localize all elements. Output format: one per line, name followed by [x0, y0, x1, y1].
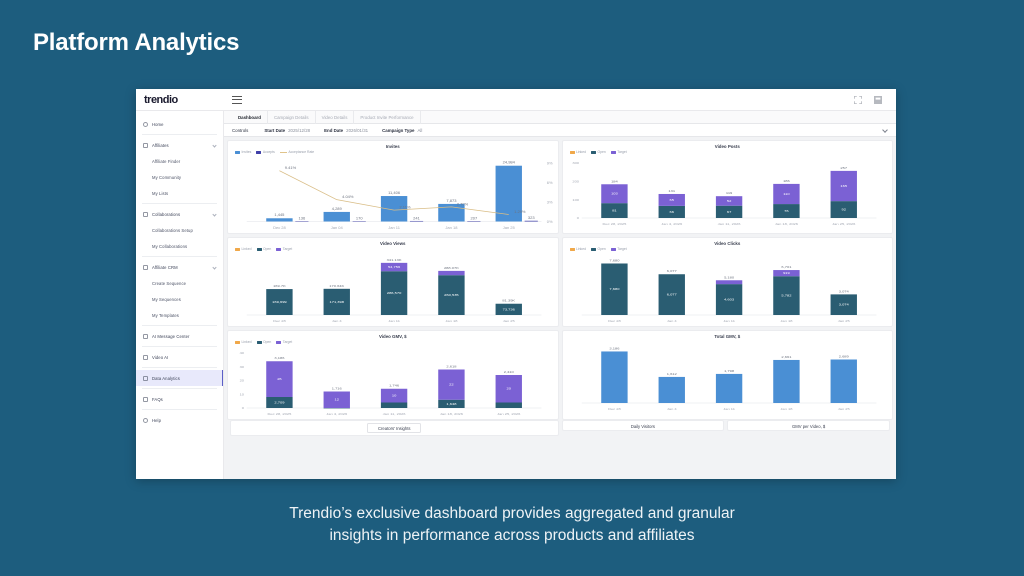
crm-icon: [143, 265, 148, 270]
tab-product-invite-performance[interactable]: Product Invite Performance: [354, 111, 420, 124]
svg-text:1,716: 1,716: [332, 387, 342, 390]
chart-title: Video Posts: [567, 144, 889, 149]
start-date-label: Start Date: [264, 128, 285, 133]
legend-label: Linked: [242, 247, 252, 251]
svg-text:184: 184: [611, 180, 618, 183]
svg-text:Jan 4, 2026: Jan 4, 2026: [661, 222, 682, 225]
nav-divider: [142, 409, 217, 410]
legend-swatch: [235, 151, 240, 154]
chart-plot-video-posts[interactable]: 010020030018481103Dec 28, 20251316665Jan…: [567, 155, 889, 227]
legend-label: Open: [263, 247, 271, 251]
slide-caption: Trendio’s exclusive dashboard provides a…: [0, 503, 1024, 548]
sidebar-item-label: Data Analytics: [152, 376, 180, 381]
controls-bar: Controls Start Date2025/12/28 End Date20…: [224, 124, 896, 137]
sidebar: HomeAffiliatesAffiliate FinderMy Communi…: [136, 111, 224, 479]
chart-legend: LinkedOpenTarget: [232, 247, 554, 251]
controls-label: Controls: [232, 128, 248, 133]
chart-legend: LinkedOpenTarget: [567, 150, 889, 154]
end-date-value: 2026/01/31: [346, 128, 368, 133]
legend-swatch: [611, 151, 616, 154]
sidebar-item-label: My Sequences: [152, 297, 181, 302]
svg-text:Dec 28: Dec 28: [273, 226, 286, 230]
sidebar-item-collaborations-setup[interactable]: Collaborations Setup: [136, 222, 223, 238]
legend-swatch: [235, 341, 240, 344]
sidebar-item-label: My Collaborations: [152, 244, 187, 249]
chart-card-video-gmv: Video GMV, $LinkedOpenTarget0102030403,1…: [227, 330, 559, 420]
caption-line-1: Trendio’s exclusive dashboard provides a…: [0, 503, 1024, 525]
svg-text:Jan 18: Jan 18: [780, 407, 792, 410]
sidebar-item-label: FAQs: [152, 397, 163, 402]
hamburger-icon[interactable]: [232, 96, 242, 104]
svg-text:81.39K: 81.39K: [502, 299, 515, 302]
svg-text:300: 300: [572, 162, 579, 165]
svg-text:7,873: 7,873: [446, 199, 456, 203]
sidebar-item-label: Affiliates: [152, 143, 169, 148]
end-date-field[interactable]: End Date2026/01/31: [324, 128, 368, 133]
sidebar-item-label: Collaborations Setup: [152, 228, 193, 233]
sidebar-item-my-templates[interactable]: My Templates: [136, 307, 223, 323]
svg-text:Jan 11: Jan 11: [723, 407, 735, 410]
svg-text:0%: 0%: [547, 220, 554, 224]
legend-swatch: [257, 341, 262, 344]
chart-title: Video Clicks: [567, 241, 889, 246]
svg-text:20: 20: [507, 387, 511, 390]
svg-text:92: 92: [841, 208, 845, 211]
legend-item[interactable]: Target: [276, 340, 292, 344]
legend-label: Target: [283, 340, 292, 344]
svg-text:12: 12: [335, 398, 339, 401]
nav-divider: [142, 203, 217, 204]
caption-line-2: insights in performance across products …: [0, 525, 1024, 547]
svg-text:Jan 25: Jan 25: [503, 319, 515, 322]
svg-text:Jan 4, 2026: Jan 4, 2026: [326, 412, 347, 415]
svg-text:Jan 11, 2026: Jan 11, 2026: [383, 412, 406, 415]
chart-plot-video-views[interactable]: 169.7K169,699Dec 28170.64K171,398Jan 434…: [232, 252, 554, 324]
sidebar-item-help[interactable]: Help: [136, 412, 223, 428]
nav-divider: [142, 134, 217, 135]
chart-grid: InvitesInvitesAcceptsAcceptance Rate0%3%…: [227, 140, 893, 420]
legend-item[interactable]: Open: [591, 247, 606, 251]
svg-text:3%: 3%: [547, 201, 554, 205]
svg-text:Jan 25: Jan 25: [503, 226, 515, 230]
start-date-value: 2025/12/28: [288, 128, 310, 133]
svg-text:Jan 18, 2026: Jan 18, 2026: [440, 412, 463, 415]
svg-text:0: 0: [576, 217, 578, 220]
svg-text:100: 100: [572, 198, 579, 201]
sidebar-item-label: Affiliate Finder: [152, 159, 180, 164]
legend-item[interactable]: Target: [611, 150, 627, 154]
legend-item[interactable]: Open: [257, 247, 272, 251]
svg-text:170: 170: [356, 217, 363, 221]
svg-text:119: 119: [725, 192, 731, 195]
chart-grid-scroll[interactable]: InvitesInvitesAcceptsAcceptance Rate0%3%…: [224, 137, 896, 479]
chart-legend: InvitesAcceptsAcceptance Rate: [232, 150, 554, 154]
sidebar-item-home[interactable]: Home: [136, 116, 223, 132]
svg-text:4,289: 4,289: [332, 207, 342, 211]
chart-legend: LinkedOpenTarget: [567, 247, 889, 251]
svg-text:30: 30: [240, 365, 244, 368]
tab-bar: DashboardCampaign DetailsVideo DetailsPr…: [224, 111, 896, 124]
svg-text:2.70%: 2.70%: [457, 203, 469, 207]
svg-text:241: 241: [413, 217, 420, 221]
legend-swatch: [235, 248, 240, 251]
legend-label: Linked: [576, 247, 586, 251]
svg-text:52: 52: [726, 199, 730, 202]
users-icon: [143, 143, 148, 148]
legend-label: Linked: [242, 340, 252, 344]
svg-text:4.04%: 4.04%: [342, 195, 354, 199]
svg-text:288.07K: 288.07K: [444, 266, 460, 269]
chart-title: Invites: [232, 144, 554, 149]
svg-text:73,736: 73,736: [503, 308, 515, 311]
svg-text:24,984: 24,984: [503, 161, 515, 165]
svg-text:286,570: 286,570: [387, 292, 402, 295]
svg-text:11,406: 11,406: [388, 191, 400, 195]
main-content: DashboardCampaign DetailsVideo DetailsPr…: [224, 111, 896, 479]
legend-item[interactable]: Acceptance Rate: [280, 150, 314, 154]
legend-swatch: [611, 248, 616, 251]
sidebar-item-label: Collaborations: [152, 212, 180, 217]
svg-text:Dec 28: Dec 28: [608, 319, 621, 322]
chevron-down-icon[interactable]: [212, 212, 216, 216]
svg-text:76: 76: [784, 209, 788, 212]
svg-text:Dec 28: Dec 28: [273, 319, 286, 322]
sidebar-item-label: Home: [152, 122, 164, 127]
sidebar-item-label: My Community: [152, 175, 181, 180]
svg-text:65: 65: [669, 198, 673, 201]
svg-text:Jan 11: Jan 11: [388, 226, 400, 230]
svg-text:Jan 04: Jan 04: [331, 226, 343, 230]
help-icon: [143, 418, 148, 423]
svg-text:186: 186: [783, 179, 790, 182]
svg-text:323: 323: [528, 217, 535, 221]
chart-title: Video Views: [232, 241, 554, 246]
chart-legend: LinkedOpenTarget: [232, 340, 554, 344]
chevron-down-icon[interactable]: [212, 143, 216, 147]
chart-plot-total-gmv[interactable]: 3,186Dec 281,612Jan 41,798Jan 112,661Jan…: [567, 340, 889, 412]
chart-card-total-gmv: Total GMV, $3,186Dec 281,612Jan 41,798Ja…: [562, 330, 894, 420]
svg-text:Jan 25: Jan 25: [837, 407, 849, 410]
svg-text:1,746: 1,746: [389, 384, 399, 387]
svg-text:Jan 18, 2026: Jan 18, 2026: [774, 222, 797, 225]
sidebar-item-collaborations[interactable]: Collaborations: [136, 206, 223, 222]
chart-card-video-clicks: Video ClicksLinkedOpenTarget7,6807,680De…: [562, 237, 894, 327]
tab-video-details[interactable]: Video Details: [316, 111, 355, 124]
svg-text:1.29%: 1.29%: [514, 210, 526, 214]
legend-swatch: [570, 151, 575, 154]
legend-label: Invites: [242, 150, 252, 154]
legend-item[interactable]: Linked: [235, 247, 252, 251]
home-icon: [143, 122, 148, 127]
svg-text:66: 66: [669, 210, 673, 213]
svg-text:6%: 6%: [547, 181, 554, 185]
svg-text:20: 20: [240, 379, 244, 382]
svg-text:341.13K: 341.13K: [387, 258, 403, 261]
legend-item[interactable]: Target: [276, 247, 292, 251]
legend-swatch: [591, 151, 596, 154]
svg-text:110: 110: [783, 192, 789, 195]
svg-text:Jan 4: Jan 4: [332, 319, 342, 322]
svg-text:2.11%: 2.11%: [399, 206, 411, 210]
svg-text:169.7K: 169.7K: [273, 285, 286, 288]
svg-text:4,603: 4,603: [724, 298, 734, 301]
svg-text:200: 200: [572, 180, 579, 183]
legend-label: Target: [617, 150, 626, 154]
svg-text:6,077: 6,077: [666, 293, 676, 296]
sidebar-item-label: Help: [152, 418, 161, 423]
tab-campaign-details[interactable]: Campaign Details: [268, 111, 316, 124]
faq-icon: [143, 397, 148, 402]
sidebar-item-affiliate-finder[interactable]: Affiliate Finder: [136, 153, 223, 169]
legend-swatch: [276, 248, 281, 251]
svg-text:9%: 9%: [547, 162, 554, 166]
app-body: HomeAffiliatesAffiliate FinderMy Communi…: [136, 111, 896, 479]
svg-text:103: 103: [611, 192, 618, 195]
svg-text:Dec 28, 2025: Dec 28, 2025: [602, 222, 626, 225]
chart-title: Total GMV, $: [567, 334, 889, 339]
campaign-type-label: Campaign Type: [382, 128, 414, 133]
sidebar-item-my-community[interactable]: My Community: [136, 169, 223, 185]
legend-swatch: [280, 152, 287, 153]
message-icon: [143, 334, 148, 339]
app-topbar: trendio: [136, 89, 896, 111]
chart-card-video-views: Video ViewsLinkedOpenTarget169.7K169,699…: [227, 237, 559, 327]
legend-item[interactable]: Invites: [235, 150, 251, 154]
svg-text:7,680: 7,680: [609, 259, 619, 262]
legend-label: Acceptance Rate: [288, 150, 314, 154]
start-date-field[interactable]: Start Date2025/12/28: [264, 128, 310, 133]
svg-text:Jan 4: Jan 4: [666, 407, 676, 410]
svg-text:131: 131: [668, 189, 675, 192]
sidebar-item-video-ai[interactable]: Video AI: [136, 349, 223, 365]
chart-title: Video GMV, $: [232, 334, 554, 339]
chart-card-invites: InvitesInvitesAcceptsAcceptance Rate0%3%…: [227, 140, 559, 234]
legend-item[interactable]: Open: [257, 340, 272, 344]
legend-item[interactable]: Target: [611, 247, 627, 251]
legend-item[interactable]: Open: [591, 150, 606, 154]
legend-label: Linked: [576, 150, 586, 154]
svg-text:3,074: 3,074: [838, 303, 848, 306]
legend-swatch: [276, 341, 281, 344]
svg-text:1,612: 1,612: [666, 372, 676, 375]
chart-plot-video-clicks[interactable]: 7,6807,680Dec 286,0776,077Jan 45,1804,60…: [567, 252, 889, 324]
svg-text:Dec 28, 2025: Dec 28, 2025: [268, 412, 292, 415]
sidebar-item-label: My Templates: [152, 313, 179, 318]
svg-text:Jan 18: Jan 18: [780, 319, 792, 322]
end-date-label: End Date: [324, 128, 343, 133]
tab-dashboard[interactable]: Dashboard: [232, 111, 268, 124]
topbar-icon-group: [854, 96, 882, 104]
legend-item[interactable]: Linked: [235, 340, 252, 344]
legend-item[interactable]: Linked: [570, 247, 587, 251]
svg-text:Jan 4: Jan 4: [666, 319, 676, 322]
chart-plot-invites[interactable]: 0%3%6%9%1,445136Dec 284,289170Jan 0411,4…: [232, 155, 554, 231]
sidebar-item-label: Video AI: [152, 355, 168, 360]
svg-text:2,661: 2,661: [781, 355, 791, 358]
svg-text:Jan 25, 2026: Jan 25, 2026: [497, 412, 520, 415]
svg-text:170.64K: 170.64K: [329, 284, 345, 287]
svg-text:10: 10: [240, 393, 244, 396]
svg-text:3,186: 3,186: [609, 347, 619, 350]
sidebar-item-ai-message-center[interactable]: AI Message Center: [136, 328, 223, 344]
svg-text:3,186: 3,186: [274, 357, 284, 360]
page-title: Platform Analytics: [33, 29, 239, 57]
sidebar-item-data-analytics[interactable]: Data Analytics: [136, 370, 223, 386]
chevron-down-icon[interactable]: [882, 127, 888, 133]
campaign-type-value: All: [417, 128, 422, 133]
svg-text:2,618: 2,618: [446, 365, 456, 368]
nav-divider: [142, 388, 217, 389]
gmv-per-video-button[interactable]: GMV per Video, $: [727, 420, 890, 431]
svg-text:9.41%: 9.41%: [285, 166, 297, 170]
right-footer-group: Daily Visitors GMV per Video, $: [562, 420, 891, 436]
dashboard-screenshot-window: trendio HomeAffiliatesAffiliate FinderMy…: [136, 89, 896, 479]
svg-text:7,680: 7,680: [609, 288, 619, 291]
sidebar-item-my-lists[interactable]: My Lists: [136, 185, 223, 201]
svg-text:Jan 11: Jan 11: [723, 319, 735, 322]
svg-text:1,648: 1,648: [446, 402, 456, 405]
nav-divider: [142, 325, 217, 326]
nav-divider: [142, 346, 217, 347]
legend-swatch: [257, 248, 262, 251]
svg-text:40: 40: [240, 352, 244, 355]
creators-insights-button[interactable]: Creators' Insights: [367, 423, 421, 433]
legend-label: Accepts: [263, 150, 275, 154]
svg-text:0: 0: [242, 407, 244, 410]
sidebar-item-faqs[interactable]: FAQs: [136, 391, 223, 407]
svg-text:165: 165: [840, 184, 847, 187]
expand-icon[interactable]: [854, 96, 862, 104]
sidebar-item-affiliates[interactable]: Affiliates: [136, 137, 223, 153]
svg-text:3,074: 3,074: [838, 290, 848, 293]
svg-text:Jan 25, 2026: Jan 25, 2026: [832, 222, 855, 225]
svg-text:Jan 18: Jan 18: [445, 319, 457, 322]
svg-text:6,701: 6,701: [781, 266, 791, 269]
sidebar-item-my-sequences[interactable]: My Sequences: [136, 291, 223, 307]
sidebar-item-label: Affiliate CRM: [152, 265, 178, 270]
sidebar-item-affiliate-crm[interactable]: Affiliate CRM: [136, 259, 223, 275]
panel-icon[interactable]: [874, 96, 882, 104]
svg-text:260,535: 260,535: [444, 294, 459, 297]
legend-swatch: [570, 248, 575, 251]
chart-plot-video-gmv[interactable]: 0102030403,1862,70926Dec 28, 20251,71612…: [232, 345, 554, 417]
chart-icon: [143, 376, 148, 381]
svg-text:1,798: 1,798: [724, 369, 734, 372]
svg-text:Jan 11: Jan 11: [388, 319, 400, 322]
nav-divider: [142, 367, 217, 368]
svg-text:257: 257: [840, 166, 847, 169]
sidebar-item-label: Create Sequence: [152, 281, 186, 286]
svg-text:10: 10: [392, 394, 396, 397]
svg-text:Jan 11, 2026: Jan 11, 2026: [717, 222, 740, 225]
legend-label: Target: [283, 247, 292, 251]
svg-text:Dec 28: Dec 28: [608, 407, 621, 410]
legend-label: Open: [598, 247, 606, 251]
svg-text:2,410: 2,410: [504, 370, 514, 373]
nav-divider: [142, 256, 217, 257]
svg-text:67: 67: [726, 210, 730, 213]
svg-text:2,709: 2,709: [274, 401, 284, 404]
svg-text:1,445: 1,445: [274, 214, 284, 218]
svg-text:Jan 25: Jan 25: [837, 319, 849, 322]
svg-text:2,689: 2,689: [838, 355, 848, 358]
svg-text:919: 919: [783, 272, 790, 275]
legend-label: Open: [263, 340, 271, 344]
svg-text:136: 136: [299, 217, 306, 221]
legend-item[interactable]: Linked: [570, 150, 587, 154]
svg-text:5,782: 5,782: [781, 294, 791, 297]
legend-swatch: [256, 151, 261, 154]
handshake-icon: [143, 212, 148, 217]
footer-button-strip: Creators' Insights Daily Visitors GMV pe…: [227, 420, 893, 439]
legend-item[interactable]: Accepts: [256, 150, 275, 154]
chevron-down-icon[interactable]: [212, 265, 216, 269]
video-icon: [143, 355, 148, 360]
svg-text:54,756: 54,756: [388, 265, 400, 268]
chart-card-video-posts: Video PostsLinkedOpenTarget0100200300184…: [562, 140, 894, 234]
svg-text:Jan 18: Jan 18: [445, 226, 457, 230]
svg-text:171,398: 171,398: [330, 300, 345, 303]
svg-text:26: 26: [277, 378, 281, 381]
sidebar-item-label: My Lists: [152, 191, 168, 196]
svg-text:6,077: 6,077: [666, 270, 676, 273]
legend-label: Target: [617, 247, 626, 251]
legend-label: Open: [598, 150, 606, 154]
svg-text:207: 207: [471, 217, 478, 221]
svg-text:169,699: 169,699: [272, 300, 287, 303]
svg-text:5,180: 5,180: [724, 276, 734, 279]
svg-text:81: 81: [612, 209, 616, 212]
sidebar-item-create-sequence[interactable]: Create Sequence: [136, 275, 223, 291]
daily-visitors-button[interactable]: Daily Visitors: [562, 420, 725, 431]
creators-insights-panel: Creators' Insights: [230, 420, 559, 436]
campaign-type-field[interactable]: Campaign TypeAll: [382, 128, 422, 133]
svg-text:22: 22: [449, 383, 453, 386]
legend-swatch: [591, 248, 596, 251]
sidebar-item-label: AI Message Center: [152, 334, 190, 339]
brand-logo: trendio: [136, 94, 224, 106]
sidebar-item-my-collaborations[interactable]: My Collaborations: [136, 238, 223, 254]
